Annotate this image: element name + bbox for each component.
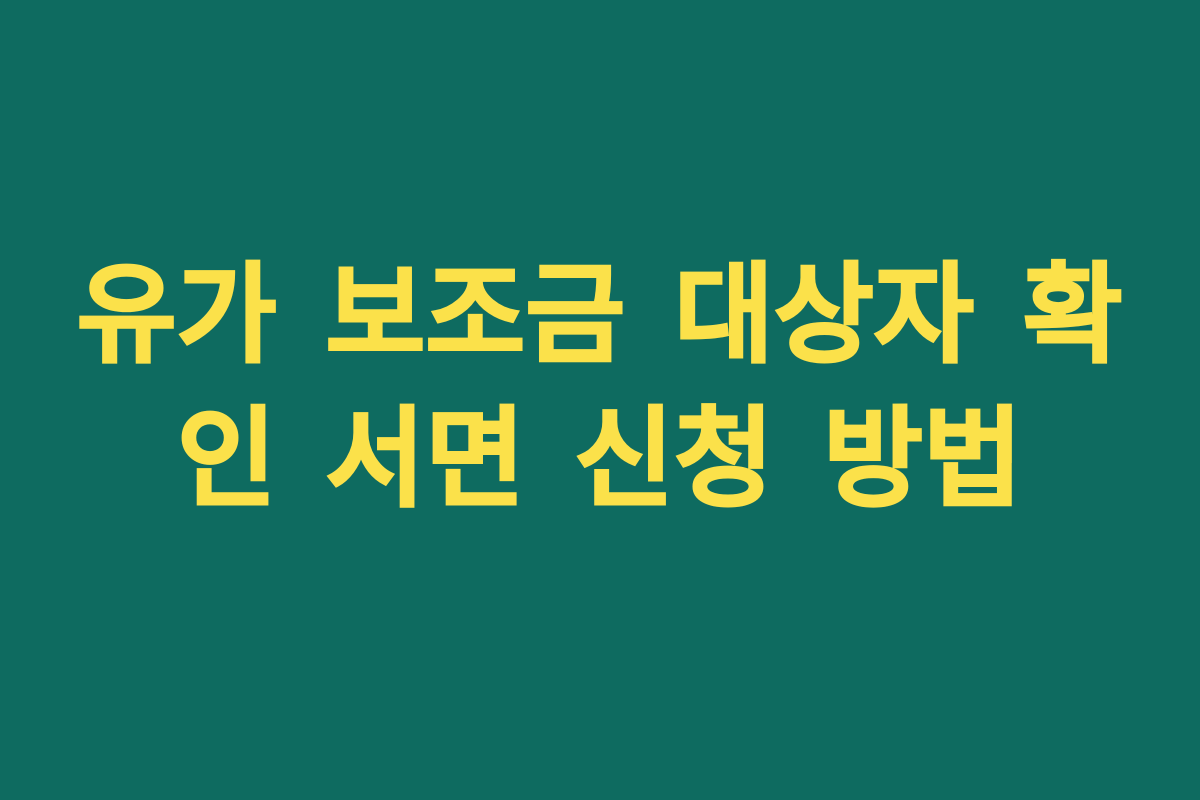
page-title-line-1: 유가 보조금 대상자 확 bbox=[40, 246, 1160, 386]
page-title-line-2: 인 서면 신청 방법 bbox=[40, 390, 1160, 530]
page-title: 유가 보조금 대상자 확 인 서면 신청 방법 bbox=[0, 246, 1200, 531]
title-card: 유가 보조금 대상자 확 인 서면 신청 방법 bbox=[0, 0, 1200, 800]
